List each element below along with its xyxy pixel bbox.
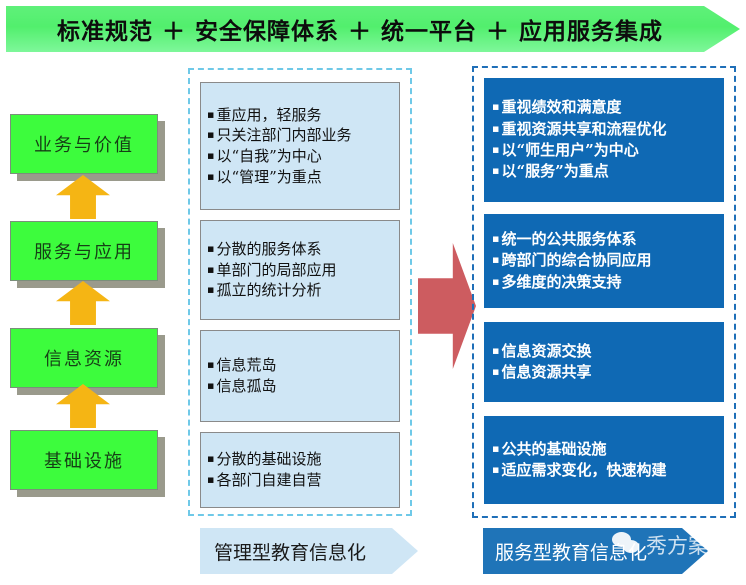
management-model-panel: 重应用，轻服务 只关注部门内部业务 以“自我”为中心 以“管理”为重点 分散的服… <box>188 68 412 516</box>
caption-text: 管理型教育信息化 <box>200 538 366 565</box>
left-layer-column: 业务与价值 服务与应用 信息资源 基础设施 <box>0 62 180 522</box>
bullet-item: 统一的公共服务体系 <box>492 229 720 250</box>
right-box-business-value: 重视绩效和满意度 重视资源共享和流程优化 以“师生用户”为中心 以“服务”为重点 <box>484 78 724 202</box>
layer-label: 基础设施 <box>44 447 124 473</box>
bullet-item: 公共的基础设施 <box>492 439 720 460</box>
bullet-item: 单部门的局部应用 <box>207 260 395 281</box>
bullet-item: 以“服务”为重点 <box>492 161 720 182</box>
mid-box-business-value: 重应用，轻服务 只关注部门内部业务 以“自我”为中心 以“管理”为重点 <box>200 82 400 210</box>
bullet-item: 跨部门的综合协同应用 <box>492 250 720 271</box>
bullet-item: 孤立的统计分析 <box>207 280 395 301</box>
layer-label: 服务与应用 <box>34 238 134 264</box>
up-arrow-icon-2 <box>56 281 110 325</box>
mid-box-service-application: 分散的服务体系 单部门的局部应用 孤立的统计分析 <box>200 220 400 320</box>
transition-right-arrow-icon <box>418 243 476 369</box>
mid-box-infrastructure: 分散的基础设施 各部门自建自营 <box>200 432 400 508</box>
layer-box-infrastructure: 基础设施 <box>10 430 158 490</box>
service-model-panel: 重视绩效和满意度 重视资源共享和流程优化 以“师生用户”为中心 以“服务”为重点… <box>472 66 736 518</box>
up-arrow-icon-3 <box>56 384 110 428</box>
up-arrow-icon-1 <box>56 175 110 219</box>
bullet-item: 信息资源交换 <box>492 341 720 362</box>
right-box-service-application: 统一的公共服务体系 跨部门的综合协同应用 多维度的决策支持 <box>484 214 724 308</box>
bullet-item: 重应用，轻服务 <box>207 105 395 126</box>
caption-management-model: 管理型教育信息化 <box>200 528 418 574</box>
layer-box-business-value: 业务与价值 <box>10 114 158 174</box>
bullet-item: 以“管理”为重点 <box>207 167 395 188</box>
bullet-item: 信息荒岛 <box>207 355 395 376</box>
bullet-item: 以“师生用户”为中心 <box>492 140 720 161</box>
bullet-item: 适应需求变化，快速构建 <box>492 460 720 481</box>
caption-service-model: 服务型教育信息化 <box>483 528 708 574</box>
bullet-item: 各部门自建自营 <box>207 470 395 491</box>
layer-box-information-resource: 信息资源 <box>10 328 158 388</box>
header-banner-text: 标准规范 ＋ 安全保障体系 ＋ 统一平台 ＋ 应用服务集成 <box>57 12 689 46</box>
layer-label: 业务与价值 <box>34 131 134 157</box>
layer-box-service-application: 服务与应用 <box>10 221 158 281</box>
bullet-item: 多维度的决策支持 <box>492 272 720 293</box>
right-box-infrastructure: 公共的基础设施 适应需求变化，快速构建 <box>484 416 724 504</box>
mid-box-information-resource: 信息荒岛 信息孤岛 <box>200 330 400 422</box>
bullet-item: 信息孤岛 <box>207 376 395 397</box>
bullet-item: 只关注部门内部业务 <box>207 125 395 146</box>
bullet-item: 分散的基础设施 <box>207 449 395 470</box>
caption-text: 服务型教育信息化 <box>483 538 647 565</box>
right-box-information-resource: 信息资源交换 信息资源共享 <box>484 322 724 402</box>
bullet-item: 重视绩效和满意度 <box>492 97 720 118</box>
bullet-item: 重视资源共享和流程优化 <box>492 119 720 140</box>
bullet-item: 分散的服务体系 <box>207 239 395 260</box>
header-banner: 标准规范 ＋ 安全保障体系 ＋ 统一平台 ＋ 应用服务集成 <box>6 6 740 52</box>
bullet-item: 以“自我”为中心 <box>207 146 395 167</box>
bullet-item: 信息资源共享 <box>492 362 720 383</box>
layer-label: 信息资源 <box>44 345 124 371</box>
